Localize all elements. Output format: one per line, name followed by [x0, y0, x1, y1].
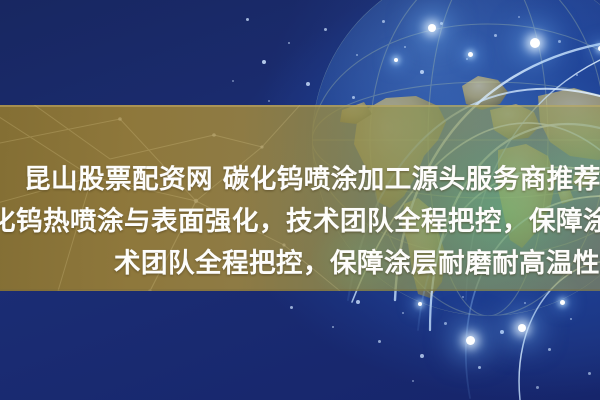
promo-banner: 昆山股票配资网 碳化钨喷涂加工源头服务商推荐 碳化钨热喷涂与表面强化，技术团队全… — [0, 0, 600, 400]
headline-line-2: 碳化钨热喷涂与表面强化，技术团队全程把控，保障涂 — [0, 199, 600, 238]
headline-line-3: 术团队全程把控，保障涂层耐磨耐高温性能。 — [114, 241, 600, 280]
headline-copy: 昆山股票配资网 碳化钨喷涂加工源头服务商推荐 碳化钨热喷涂与表面强化，技术团队全… — [0, 105, 600, 291]
headline-line-1: 昆山股票配资网 碳化钨喷涂加工源头服务商推荐 — [24, 157, 600, 196]
